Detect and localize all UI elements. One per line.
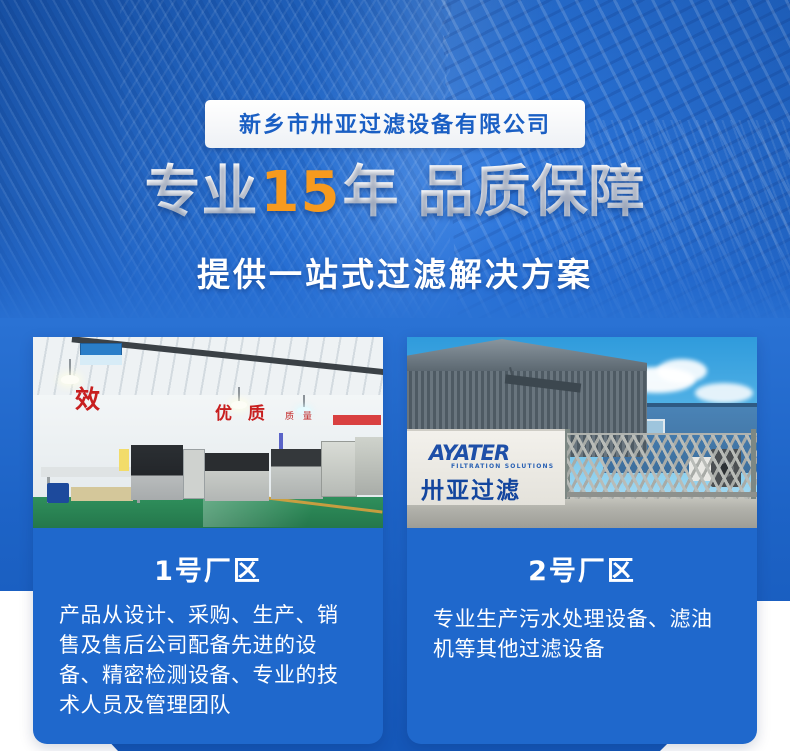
factory-card-1[interactable]: 效 优 质 质 量 1号厂区 产品从设计、 xyxy=(33,337,383,744)
factory-card-2[interactable]: AYATER FILTRATION SOLUTIONS 卅亚过滤 2号厂区 专业… xyxy=(407,337,757,744)
wall-character-1: 效 xyxy=(75,380,100,416)
machine-1 xyxy=(131,445,183,500)
company-name-banner: 新乡市卅亚过滤设备有限公司 xyxy=(205,100,585,148)
headline-part-2: 年 xyxy=(342,160,399,225)
blue-drum xyxy=(47,483,69,503)
machine-2 xyxy=(205,453,269,501)
ayater-logo-subtext: FILTRATION SOLUTIONS xyxy=(451,463,554,470)
factory-card-2-body: 专业生产污水处理设备、滤油机等其他过滤设备 xyxy=(407,596,757,688)
machine-3 xyxy=(271,449,323,499)
company-name-text: 新乡市卅亚过滤设备有限公司 xyxy=(239,113,551,138)
machine-4 xyxy=(321,441,357,497)
ayater-logo-chinese: 卅亚过滤 xyxy=(421,471,521,505)
factory-cards-row: 效 优 质 质 量 1号厂区 产品从设计、 xyxy=(33,337,757,744)
promotional-poster: 新乡市卅亚过滤设备有限公司 专业15年品质保障 提供一站式过滤解决方案 效 优 … xyxy=(0,0,790,751)
ayater-logo-text: AYATER xyxy=(429,441,509,465)
wall-character-2: 优 质 xyxy=(215,399,270,424)
machine-5 xyxy=(355,437,383,495)
retractable-gate xyxy=(567,433,757,499)
headline-part-1: 专业 xyxy=(145,160,259,225)
factory-card-1-title: 1号厂区 xyxy=(33,528,383,596)
page-title: 专业15年品质保障 xyxy=(0,162,790,224)
factory-card-1-body: 产品从设计、采购、生产、销售及售后公司配备先进的设备、精密检测设备、专业的技术人… xyxy=(33,596,383,744)
headline-part-3: 品质保障 xyxy=(417,160,645,225)
page-subtitle: 提供一站式过滤解决方案 xyxy=(0,248,790,296)
wall-character-3: 质 量 xyxy=(285,409,315,422)
factory-photo-exterior: AYATER FILTRATION SOLUTIONS 卅亚过滤 xyxy=(407,337,757,528)
factory-card-2-title: 2号厂区 xyxy=(407,528,757,596)
factory-photo-interior: 效 优 质 质 量 xyxy=(33,337,383,528)
headline-years-number: 15 xyxy=(259,160,343,225)
